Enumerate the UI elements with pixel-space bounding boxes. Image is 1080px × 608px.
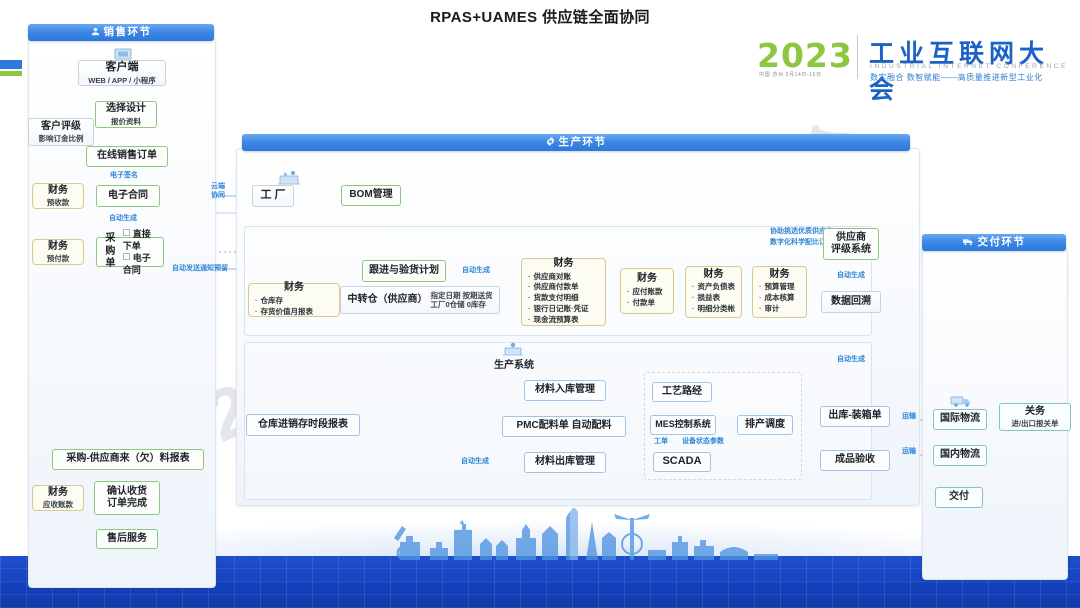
edge-label-cloud-collab: 云端 协同 — [206, 183, 230, 201]
truck-icon — [963, 235, 974, 252]
edge-label-transport-2: 运输 — [897, 448, 921, 457]
factory-icon — [276, 170, 302, 186]
node-finance-payable[interactable]: 财务 应付账款 付款单 — [620, 268, 674, 314]
node-customs[interactable]: 关务 进/出口报关单 — [999, 403, 1071, 431]
node-purchase-order[interactable]: 采购单 直接下单 电子合同 — [96, 237, 164, 267]
node-scada[interactable]: SCADA — [653, 452, 711, 472]
edge-label-auto-generate-4: 自动生成 — [452, 458, 498, 467]
production-system-icon — [500, 341, 526, 357]
node-finance-statements[interactable]: 财务 资产负债表 损益表 明细分类帐 — [685, 266, 742, 318]
production-panel-title: 生产环节 — [559, 136, 607, 148]
node-factory[interactable]: 工 厂 — [252, 185, 294, 207]
node-transit-warehouse[interactable]: 中转仓（供应商） 指定日期 按期送货 工厂0仓储 0库存 — [340, 286, 500, 314]
edge-label-auto-generate-sales: 自动生成 — [100, 215, 146, 224]
node-warehouse-period-report[interactable]: 仓库进销存时段报表 — [246, 414, 360, 436]
person-icon — [91, 25, 100, 42]
supplier-selection-note: 协助挑选优质供应商 数字化科学配比订单 — [741, 227, 833, 248]
node-outbound-packing-list[interactable]: 出库-装箱单 — [820, 406, 890, 427]
node-delivery[interactable]: 交付 — [935, 487, 983, 508]
sales-panel-title: 销售环节 — [104, 26, 152, 38]
node-data-traceback[interactable]: 数据回溯 — [821, 291, 881, 313]
node-production-scheduling[interactable]: 排产调度 — [737, 415, 793, 435]
edge-label-device-status: 设备状态参数 — [674, 438, 732, 447]
edge-label-work-order: 工单 — [650, 438, 672, 447]
node-supplier-rating-system[interactable]: 供应商 评级系统 — [823, 228, 879, 260]
gear-icon — [546, 135, 555, 152]
edge-label-e-sign: 电子签名 — [104, 172, 144, 181]
sales-panel-header: 销售环节 — [28, 24, 214, 41]
delivery-truck-icon — [948, 392, 974, 408]
node-customer-rating[interactable]: 客户评级 影响订金比例 — [28, 118, 94, 146]
node-finance-receivable[interactable]: 财务 应收账款 — [32, 485, 84, 511]
node-follow-inspection-plan[interactable]: 跟进与验货计划 — [362, 260, 446, 282]
node-online-sales-order[interactable]: 在线销售订单 — [86, 146, 168, 167]
node-bom-management[interactable]: BOM管理 — [341, 185, 401, 206]
node-e-contract[interactable]: 电子合同 — [96, 185, 160, 207]
node-after-sales-service[interactable]: 售后服务 — [96, 529, 158, 549]
delivery-panel-header: 交付环节 — [922, 234, 1066, 251]
node-finance-prepayment[interactable]: 财务 预付款 — [32, 239, 84, 265]
node-process-route[interactable]: 工艺路经 — [652, 382, 712, 402]
node-client[interactable]: 客户端 WEB / APP / 小程序 — [78, 60, 166, 86]
node-production-system[interactable]: 生产系统 — [487, 356, 541, 376]
edge-label-transport-1: 运输 — [897, 413, 921, 422]
node-pmc-auto-batching[interactable]: PMC配料单 自动配料 — [502, 416, 626, 437]
node-finance-inventory[interactable]: 财务 仓库存 存货价值月报表 — [248, 283, 340, 317]
node-finance-supplier[interactable]: 财务 供应商对账 供应商付款单 货款支付明细 银行日记账·凭证 现金流预算表 — [521, 258, 606, 326]
node-material-inbound[interactable]: 材料入库管理 — [524, 380, 606, 401]
edge-label-auto-generate-3: 自动生成 — [828, 356, 874, 365]
node-domestic-logistics[interactable]: 国内物流 — [933, 445, 987, 466]
node-select-design[interactable]: 选择设计 报价资料 — [95, 101, 157, 128]
node-international-logistics[interactable]: 国际物流 — [933, 409, 987, 430]
node-mes-control-system[interactable]: MES控制系统 — [650, 415, 716, 435]
node-supplier-material-report[interactable]: 采购-供应商来（欠）料报表 — [52, 449, 204, 470]
delivery-panel-title: 交付环节 — [978, 236, 1026, 248]
node-confirm-receipt[interactable]: 确认收货 订单完成 — [94, 481, 160, 515]
diagram-canvas: RPAS+UAMES 供应链全面协同 2023 中国·苏州 9月14日-16日 … — [0, 0, 1080, 608]
production-panel-header: 生产环节 — [242, 134, 910, 151]
node-finance-budget[interactable]: 财务 预算管理 成本核算 审计 — [752, 266, 807, 318]
node-finished-goods-inspection[interactable]: 成品验收 — [820, 450, 890, 471]
sidebar-accent-bar — [0, 60, 22, 82]
node-material-outbound[interactable]: 材料出库管理 — [524, 452, 606, 473]
edge-label-auto-generate-1: 自动生成 — [453, 267, 499, 276]
edge-label-auto-generate-2: 自动生成 — [828, 272, 874, 281]
node-finance-prepaid-received[interactable]: 财务 预收款 — [32, 183, 84, 209]
